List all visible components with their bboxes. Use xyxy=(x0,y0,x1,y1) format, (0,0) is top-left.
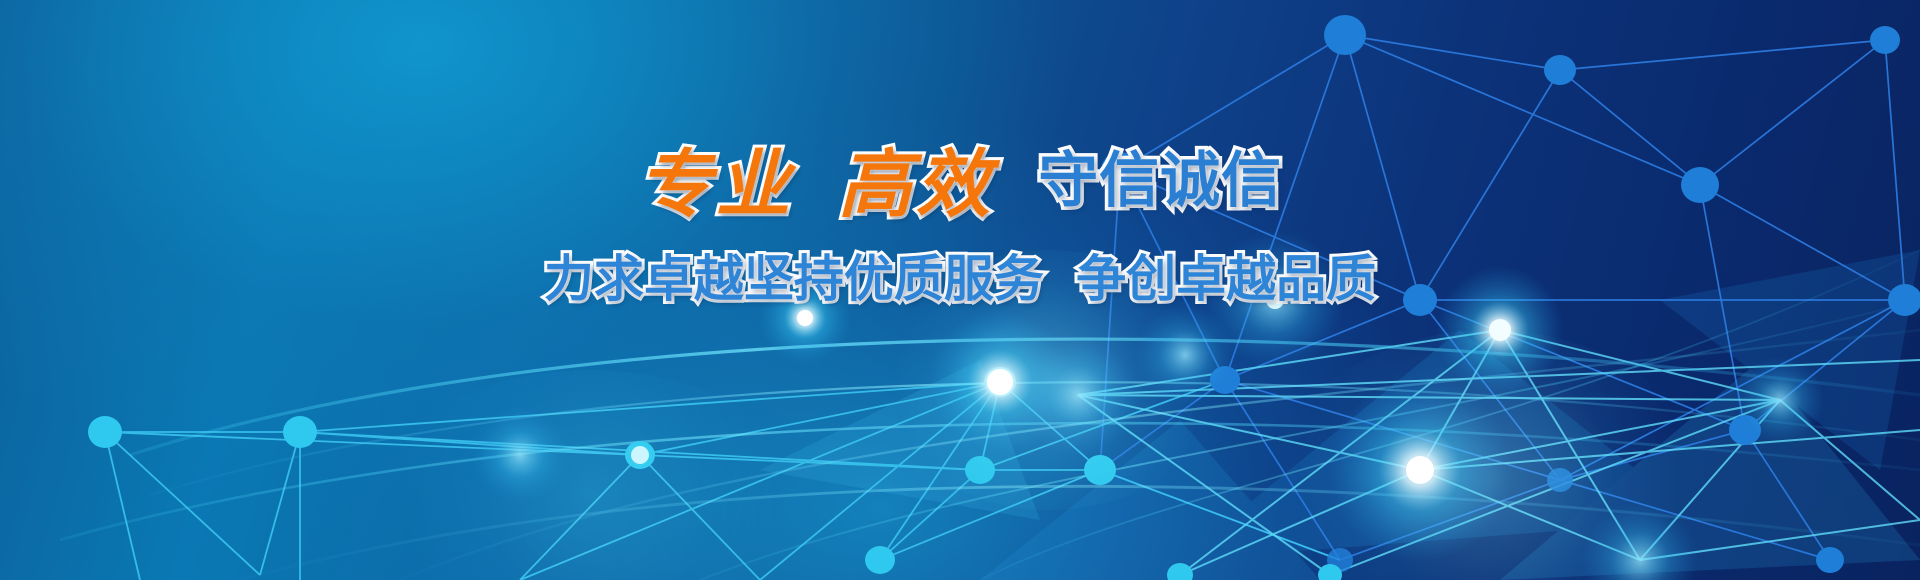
headline-brush-part-2: 高效 xyxy=(838,142,994,228)
headline: 专业 高效 守信诚信 xyxy=(0,148,1920,240)
subtitle: 力求卓越坚持优质服务 争创卓越品质 xyxy=(0,254,1920,314)
headline-outline-text: 守信诚信 xyxy=(1038,146,1282,216)
subtitle-part-1: 力求卓越坚持优质服务 xyxy=(544,250,1044,308)
banner-text-block: 专业 高效 守信诚信 力求卓越坚持优质服务 争创卓越品质 xyxy=(0,148,1920,314)
subtitle-part-2: 争创卓越品质 xyxy=(1076,250,1376,308)
hero-banner: 专业 高效 守信诚信 力求卓越坚持优质服务 争创卓越品质 xyxy=(0,0,1920,580)
headline-brush-part-1: 专业 xyxy=(638,142,794,228)
